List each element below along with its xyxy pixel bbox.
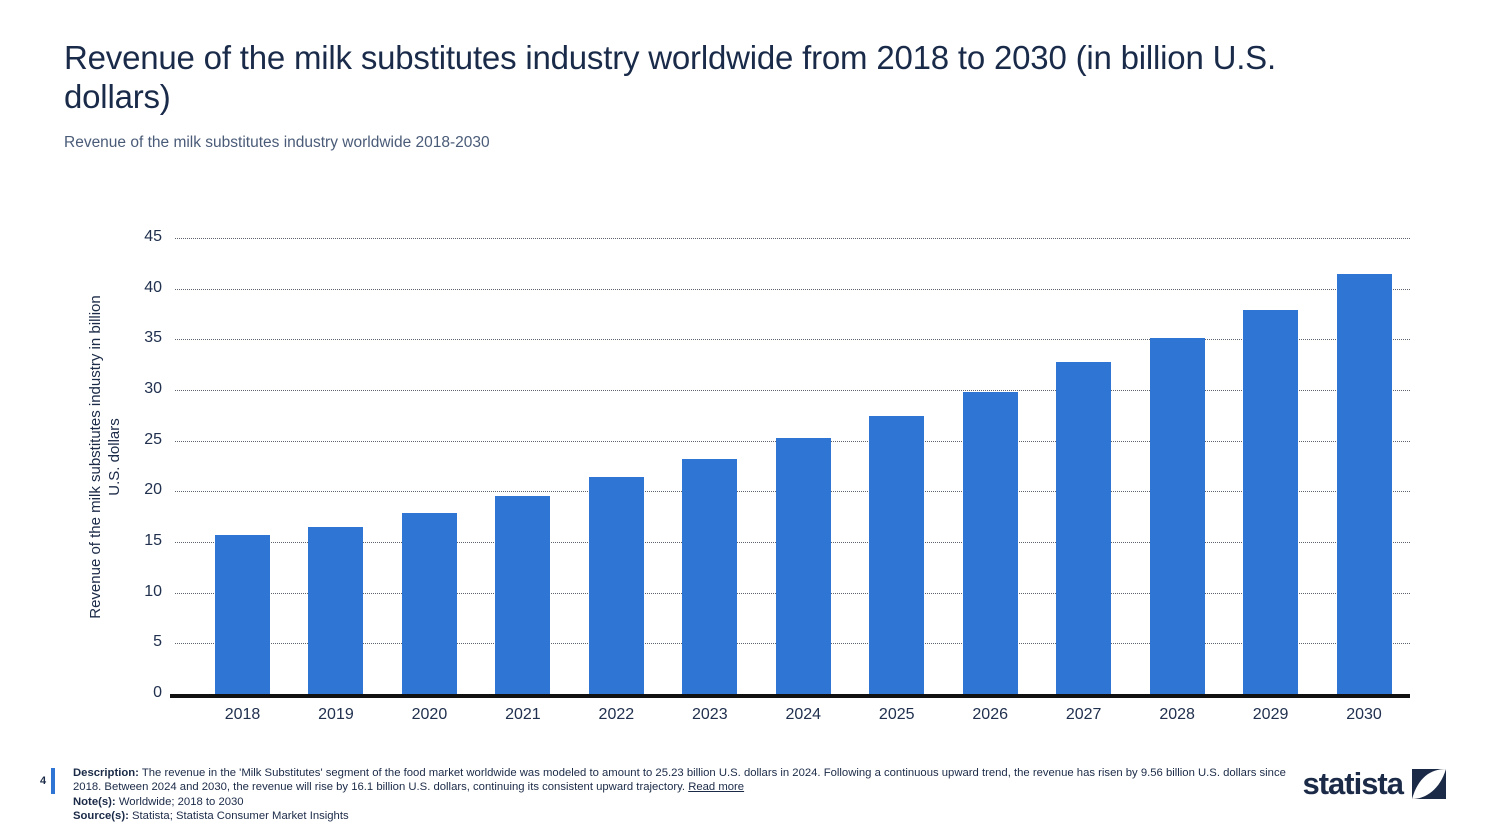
chart-header: Revenue of the milk substitutes industry…: [64, 38, 1394, 153]
bar-slot: [849, 238, 944, 694]
y-axis-tick-label: 20: [102, 481, 162, 499]
x-axis-tick-label: 2023: [662, 706, 757, 724]
bar-2026[interactable]: [963, 392, 1018, 694]
x-axis-tick-label: 2021: [475, 706, 570, 724]
notes-row: Note(s): Worldwide; 2018 to 2030: [73, 795, 1288, 809]
bar-2024[interactable]: [776, 438, 831, 694]
x-axis-tick-label: 2018: [195, 706, 290, 724]
bar-slot: [569, 238, 664, 694]
read-more-link[interactable]: Read more: [688, 781, 744, 793]
bar-2028[interactable]: [1150, 338, 1205, 694]
statista-logo-mark: [1412, 769, 1446, 799]
x-axis-tick-label: 2029: [1223, 706, 1318, 724]
x-axis-tick-label: 2026: [943, 706, 1038, 724]
page-title: Revenue of the milk substitutes industry…: [64, 38, 1364, 116]
y-axis-tick-label: 0: [102, 684, 162, 702]
bar-slot: [288, 238, 383, 694]
y-axis-tick-label: 10: [102, 583, 162, 601]
sources-label: Source(s):: [73, 810, 129, 822]
bar-2029[interactable]: [1243, 310, 1298, 694]
bar-2023[interactable]: [682, 459, 737, 694]
bar-slot: [1036, 238, 1131, 694]
bar-slot: [662, 238, 757, 694]
footer: 4 Description: The revenue in the 'Milk …: [40, 762, 1470, 822]
bar-slot: [756, 238, 851, 694]
bar-2018[interactable]: [215, 535, 270, 694]
bar-slot: [475, 238, 570, 694]
page-marker: 4: [40, 768, 55, 794]
bar-slot: [382, 238, 477, 694]
bar-2025[interactable]: [869, 416, 924, 694]
bar-2027[interactable]: [1056, 362, 1111, 694]
page-accent-bar: [51, 768, 55, 794]
y-axis-tick-label: 5: [102, 633, 162, 651]
description-label: Description:: [73, 767, 139, 779]
bar-slot: [1130, 238, 1225, 694]
bar-2030[interactable]: [1337, 274, 1392, 694]
x-axis-tick-label: 2024: [756, 706, 851, 724]
sources-text: Statista; Statista Consumer Market Insig…: [129, 810, 349, 822]
x-axis-tick-label: 2022: [569, 706, 664, 724]
bar-slot: [1317, 238, 1412, 694]
statista-logo-text: statista: [1302, 768, 1403, 799]
sources-row: Source(s): Statista; Statista Consumer M…: [73, 809, 1288, 823]
notes-text: Worldwide; 2018 to 2030: [116, 796, 244, 808]
y-axis-tick-label: 45: [102, 228, 162, 246]
x-axis-tick-label: 2027: [1036, 706, 1131, 724]
bar-2019[interactable]: [308, 527, 363, 694]
y-axis-title: Revenue of the milk substitutes industry…: [86, 242, 124, 672]
chart-region: Revenue of the milk substitutes industry…: [0, 200, 1501, 745]
x-axis-tick-label: 2025: [849, 706, 944, 724]
notes-label: Note(s):: [73, 796, 116, 808]
bar-2020[interactable]: [402, 513, 457, 694]
bar-series: [175, 238, 1410, 694]
x-axis-line: [170, 694, 1410, 698]
bar-2022[interactable]: [589, 477, 644, 694]
chart-subtitle: Revenue of the milk substitutes industry…: [64, 133, 1394, 153]
description-text: The revenue in the 'Milk Substitutes' se…: [73, 767, 1286, 793]
x-axis-tick-label: 2028: [1130, 706, 1225, 724]
bar-slot: [1223, 238, 1318, 694]
x-axis-tick-label: 2020: [382, 706, 477, 724]
page-number: 4: [40, 775, 46, 787]
y-axis-tick-label: 35: [102, 329, 162, 347]
x-axis-tick-label: 2019: [288, 706, 383, 724]
y-axis-tick-label: 40: [102, 279, 162, 297]
bar-slot: [943, 238, 1038, 694]
x-axis-tick-label: 2030: [1317, 706, 1412, 724]
plot-area: 051015202530354045 201820192020202120222…: [175, 238, 1410, 694]
bar-slot: [195, 238, 290, 694]
bar-2021[interactable]: [495, 496, 550, 694]
statista-logo[interactable]: statista: [1302, 768, 1446, 799]
y-axis-tick-label: 30: [102, 380, 162, 398]
y-axis-tick-label: 25: [102, 431, 162, 449]
y-axis-tick-label: 15: [102, 532, 162, 550]
description-row: Description: The revenue in the 'Milk Su…: [73, 766, 1288, 795]
footer-text: Description: The revenue in the 'Milk Su…: [73, 766, 1288, 823]
